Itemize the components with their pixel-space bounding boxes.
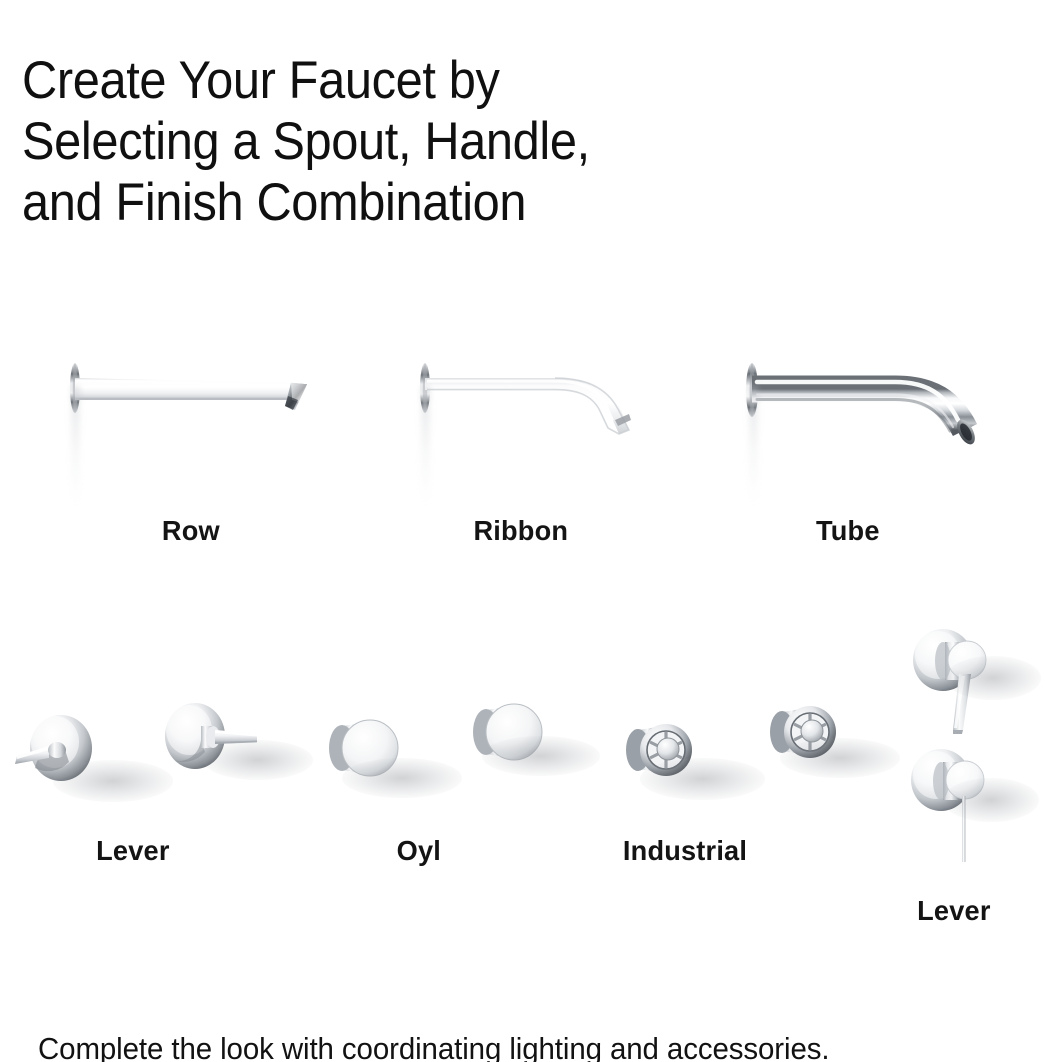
handle-lever-label: Lever [96,835,169,867]
spout-ribbon-label: Ribbon [473,515,568,547]
handle-lever-column-label: Lever [917,895,990,927]
spout-row-label: Row [162,515,220,547]
handle-oyl-label: Oyl [397,835,441,867]
spout-tube-image[interactable] [735,348,1035,468]
handle-industrial-label: Industrial [623,835,747,867]
page-title: Create Your Faucet by Selecting a Spout,… [22,50,740,233]
spout-ribbon-image[interactable] [405,348,705,458]
spout-tube-label: Tube [816,515,880,547]
handle-industrial-pair-image[interactable] [600,700,860,810]
footer-caption: Complete the look with coordinating ligh… [38,1031,829,1062]
handle-lever-pair-image[interactable] [5,700,265,810]
spout-row-image[interactable] [55,348,355,458]
handle-oyl-pair-image[interactable] [300,698,560,808]
faucet-configurator-page: Create Your Faucet by Selecting a Spout,… [0,0,1062,1062]
handle-lever-column-image[interactable] [895,628,1045,878]
